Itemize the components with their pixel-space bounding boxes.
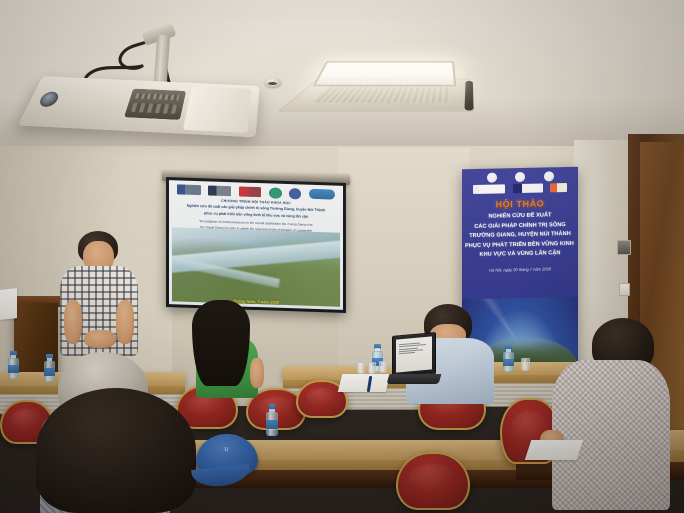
projection-screen: CHƯƠNG TRÌNH HỘI THẢO KHOA HỌC Nghiên cứ… [166,177,346,313]
british-council-logo [208,185,231,196]
university-logo [239,186,261,197]
drinking-glass[interactable] [379,361,387,373]
water-bottle[interactable] [266,404,278,436]
partner-logo [550,183,567,192]
led-ceiling-light [313,61,456,86]
wall-panel-icon[interactable] [617,240,631,255]
documents[interactable] [525,440,583,460]
laptop-display [396,336,432,373]
institute-seal-icon [269,187,282,198]
drinking-glass[interactable] [368,362,376,374]
drinking-glass[interactable] [357,362,365,374]
podium-papers [0,288,17,320]
banner-line: KHU VỰC VÀ VÙNG LÂN CẬN [465,249,575,261]
projector-lens-icon [37,91,61,107]
laptop[interactable] [392,332,436,378]
water-bottle[interactable] [44,354,55,382]
laptop-base[interactable] [387,374,442,384]
university-seal-icon [515,171,525,181]
british-council-logo [513,184,543,194]
ministry-seal-icon [289,188,301,199]
partner-seal-icon [544,171,554,181]
presentation-slide: CHƯƠNG TRÌNH HỘI THẢO KHOA HỌC Nghiên cứ… [169,180,343,310]
speaker-arm-right [116,300,134,344]
smoke-detector-icon [265,78,281,87]
documents[interactable] [338,374,390,392]
speaker-hands [84,330,116,348]
under-armour-logo-icon: ∪ [217,446,236,457]
man-patterned-shirt [552,360,670,510]
woman-green-arm [250,358,264,388]
woman-green-hair [192,300,250,386]
banner-text-block: NGHIÊN CỨU ĐỀ XUẤT CÁC GIẢI PHÁP CHỈNH T… [462,208,578,261]
water-bottle[interactable] [8,351,19,379]
light-switch-icon[interactable] [619,283,630,296]
chair[interactable] [396,452,470,510]
partner-logo [309,189,335,200]
water-bottle[interactable] [503,345,514,372]
conference-room-photo: CHƯƠNG TRÌNH HỘI THẢO KHOA HỌC Nghiên cứ… [0,0,684,513]
banner-date: Hà Nội, ngày 20 tháng 7 năm 2020 [462,266,578,273]
drinking-glass[interactable] [521,358,530,371]
newton-fund-logo [473,184,505,194]
slide-aerial-photo [172,227,340,307]
institute-seal-icon [487,172,497,182]
banner-logo-row [462,181,578,196]
dark-haired-head [36,388,196,513]
newton-fund-logo [177,184,201,195]
speaker-arm-left [64,300,82,344]
